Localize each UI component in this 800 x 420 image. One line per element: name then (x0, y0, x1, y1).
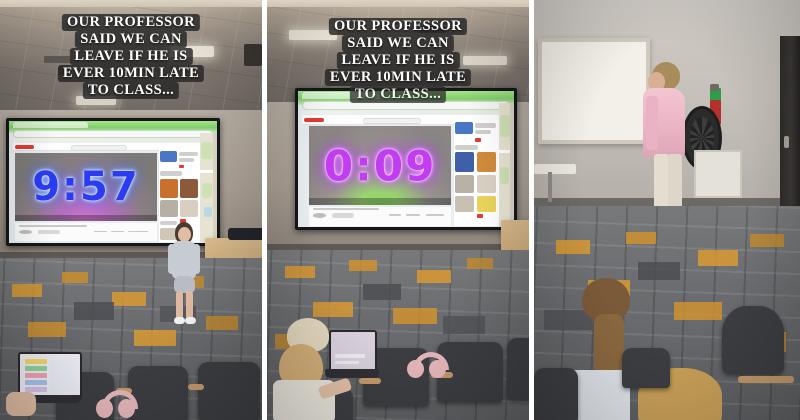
calendar-event (25, 373, 47, 378)
headphone-cup (429, 360, 446, 378)
video-title-line (313, 208, 379, 210)
student-head (178, 227, 191, 242)
student-shoe (185, 317, 196, 324)
door-handle[interactable] (784, 136, 789, 148)
laptop-keyboard[interactable] (325, 369, 379, 378)
carpet-tile-accent (417, 270, 451, 283)
video-meta-strip (15, 223, 156, 240)
map-scrollbar[interactable] (213, 133, 217, 242)
carpet-tile-accent (556, 240, 590, 254)
channel-avatar (313, 213, 326, 218)
sidebar-section-header (455, 145, 478, 150)
laptop-screen (329, 330, 377, 374)
subscribe-button[interactable] (332, 213, 355, 217)
youtube-logo-icon (15, 145, 34, 149)
carpet-tile-accent (206, 316, 238, 330)
headphone-cup (96, 399, 113, 418)
scene-2: 0:09 (267, 0, 529, 420)
map-green-area (201, 142, 213, 159)
secondary-window-map (200, 133, 217, 242)
video-controls-bar[interactable] (309, 198, 452, 205)
ceiling-light (463, 56, 507, 65)
carpet-tile-dark (363, 284, 401, 300)
youtube-search-input (363, 118, 421, 124)
calendar-event (25, 359, 47, 364)
sidebar-badge (179, 165, 184, 169)
carpet-tile-accent (112, 292, 146, 306)
top-strip (267, 0, 529, 7)
carpet-tile-accent (28, 322, 66, 337)
sidebar-thumbnail[interactable] (455, 196, 474, 212)
action-line (426, 214, 445, 216)
sidebar-badge (477, 214, 483, 218)
carpet-tile-accent (467, 258, 493, 269)
action-line (128, 231, 148, 233)
map-green-area (202, 183, 212, 198)
ceiling-grid (0, 0, 262, 120)
carpet-tile-accent (750, 234, 784, 247)
sidebar-thumbnail[interactable] (455, 152, 474, 171)
browser-url-bar (13, 130, 213, 138)
browser-tabs (13, 122, 88, 128)
countdown-timer-display: 0:09 (309, 141, 452, 190)
ceiling-speaker (58, 66, 70, 75)
chair-armrest (188, 384, 204, 390)
video-player: 9:57 (15, 153, 156, 221)
youtube-logo-icon (304, 118, 323, 122)
calendar-event (25, 366, 47, 371)
ceiling-light (76, 96, 116, 105)
student-shoe (174, 317, 185, 324)
projector-screen-content: 0:09 (298, 91, 514, 227)
subscribe-button[interactable] (38, 230, 61, 234)
sidebar-thumbnail[interactable] (477, 196, 496, 212)
headphone-cup (118, 399, 135, 418)
browser-url-bar (302, 101, 509, 110)
laptop-content-line (335, 361, 359, 364)
action-line (111, 231, 124, 233)
video-title-line (19, 225, 87, 227)
sidebar-thumbnail[interactable] (477, 152, 496, 171)
pink-headphones[interactable] (96, 390, 136, 420)
youtube-sidebar (454, 120, 499, 226)
calendar-panel (50, 359, 76, 392)
channel-avatar (19, 230, 32, 234)
ceiling-vent (44, 56, 70, 63)
side-table (534, 164, 576, 174)
calendar-app (23, 357, 77, 395)
auditorium-chair[interactable] (128, 366, 188, 420)
carpet-tile-accent (12, 284, 42, 297)
professor-arm (646, 96, 658, 150)
action-line (94, 231, 107, 233)
sidebar-section-header (160, 171, 182, 176)
youtube-search-input (71, 145, 127, 151)
auditorium-chair[interactable] (722, 306, 784, 374)
laptop-device[interactable] (329, 330, 377, 386)
ceiling-speaker (244, 44, 262, 66)
panel-classroom-timer-009: 0:09 (267, 0, 529, 420)
carpet-tile-accent (393, 308, 437, 324)
sidebar-text-line (179, 152, 198, 157)
fire-extinguisher-handle (710, 84, 719, 91)
whiteboard (538, 38, 650, 144)
sidebar-thumbnail[interactable] (455, 175, 474, 193)
sidebar-badge (475, 138, 480, 142)
ceiling-vent (417, 26, 445, 33)
action-line (389, 214, 402, 216)
student-leg (176, 291, 183, 319)
auditorium-chair[interactable] (622, 348, 670, 388)
student-leg (186, 291, 193, 319)
carpet-tile-accent (674, 302, 722, 320)
scene-1: 9:57 (0, 0, 262, 420)
carpet-tile-accent (313, 302, 353, 317)
video-player: 0:09 (309, 126, 452, 205)
panel-professor-leaving (534, 0, 800, 420)
laptop-content-line (335, 354, 365, 358)
ceiling-light (289, 30, 337, 40)
carpet-tile-accent (349, 260, 377, 271)
sidebar-text-line (179, 158, 194, 162)
map-green-area (500, 115, 511, 137)
browser-bookmarks-bar (302, 110, 509, 114)
pink-headphones[interactable] (407, 352, 447, 380)
map-scrollbar[interactable] (510, 103, 514, 225)
countdown-timer-display: 9:57 (15, 164, 156, 210)
video-meta-strip (309, 207, 452, 226)
action-line (406, 214, 420, 216)
sidebar-thumbnail[interactable] (160, 151, 177, 162)
map-water (204, 207, 212, 217)
podium-equipment (228, 228, 262, 240)
ceiling (0, 0, 262, 120)
sidebar-thumbnail[interactable] (160, 200, 177, 217)
ceiling-light (170, 46, 214, 57)
top-strip (0, 0, 262, 7)
secondary-window-map (499, 103, 514, 225)
chair-armrest (738, 376, 794, 383)
student-hand (6, 392, 36, 416)
auditorium-chair[interactable] (198, 362, 260, 420)
sidebar-thumbnail[interactable] (180, 200, 197, 217)
browser-bookmarks-bar (13, 138, 213, 142)
carpet-tile-accent (134, 330, 176, 346)
headphone-cup (407, 360, 424, 378)
video-controls-bar[interactable] (15, 215, 156, 221)
sidebar-text-line (475, 123, 496, 128)
carpet-tile-dark (443, 316, 485, 334)
projector-screen: 0:09 (295, 88, 517, 230)
auditorium-chair[interactable] (534, 368, 578, 420)
sidebar-thumbnail[interactable] (477, 175, 496, 193)
carpet-tile-accent (698, 250, 738, 266)
sidebar-thumbnail[interactable] (455, 122, 473, 135)
map-green-area (500, 167, 509, 184)
carpet-tile-accent (285, 266, 315, 278)
three-panel-montage: 9:57 (0, 0, 800, 420)
sidebar-thumbnail[interactable] (160, 179, 177, 198)
sidebar-text-line (475, 130, 490, 134)
calendar-event (25, 380, 47, 385)
table-leg (548, 172, 552, 202)
carpet-tile-dark (74, 302, 114, 320)
scene-3 (534, 0, 800, 420)
sidebar-thumbnail[interactable] (180, 179, 197, 198)
browser-tabs (302, 92, 380, 99)
panel-classroom-timer-957: 9:57 (0, 0, 262, 420)
auditorium-chair[interactable] (507, 338, 529, 400)
student-standing (166, 222, 202, 332)
carpet-tile-accent (62, 272, 88, 283)
student-arm (193, 244, 200, 274)
student-arm (168, 244, 175, 274)
carpet-tile-accent (626, 232, 656, 244)
door[interactable] (780, 36, 800, 214)
leaning-board (694, 150, 742, 198)
